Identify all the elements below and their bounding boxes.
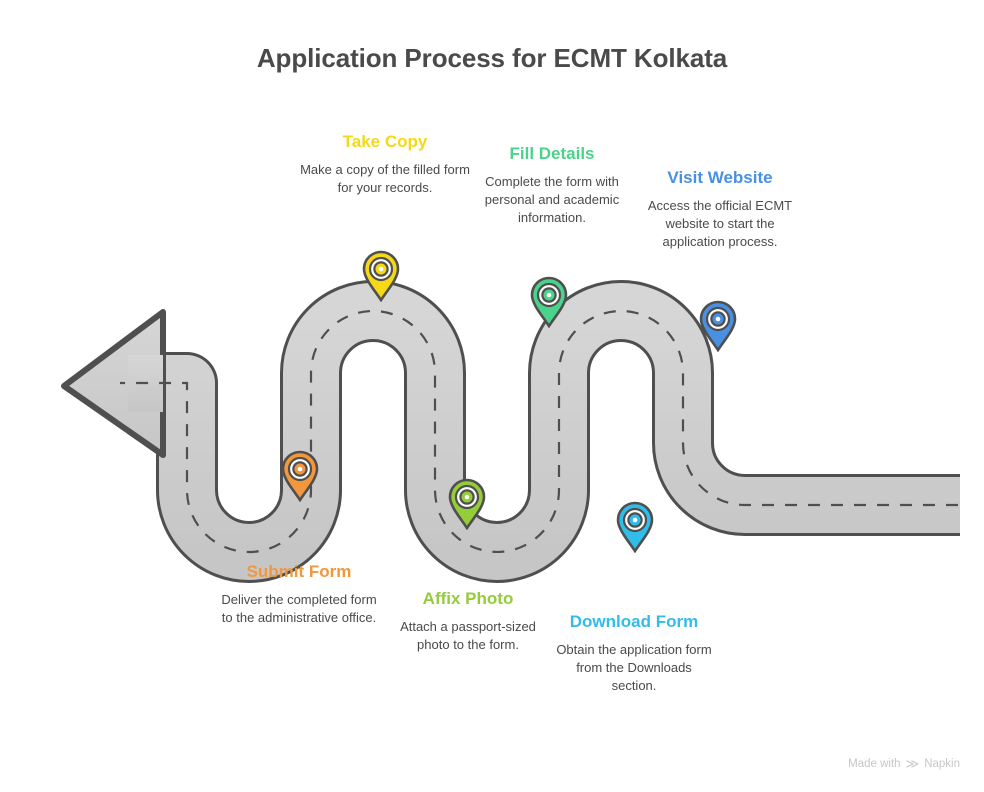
pin-center-dot [716, 317, 721, 322]
map-pin-take-copy[interactable] [361, 250, 401, 302]
step-title: Affix Photo [388, 588, 548, 609]
step-take-copy[interactable]: Take Copy Make a copy of the filled form… [297, 131, 473, 197]
pin-center-dot [379, 267, 384, 272]
step-description: Make a copy of the filled form for your … [297, 161, 473, 197]
step-download-form[interactable]: Download Form Obtain the application for… [556, 611, 712, 695]
step-affix-photo[interactable]: Affix Photo Attach a passport-sized phot… [388, 588, 548, 654]
napkin-watermark: Made with ≫ Napkin [848, 757, 960, 770]
watermark-brand-label: Napkin [924, 758, 960, 770]
step-title: Fill Details [474, 143, 630, 164]
step-title: Submit Form [219, 561, 379, 582]
step-description: Attach a passport-sized photo to the for… [388, 618, 548, 654]
map-pin-fill-details[interactable] [529, 276, 569, 328]
step-submit-form[interactable]: Submit Form Deliver the completed form t… [219, 561, 379, 627]
step-fill-details[interactable]: Fill Details Complete the form with pers… [474, 143, 630, 227]
pin-center-dot [465, 495, 470, 500]
napkin-logo-icon: ≫ [906, 757, 920, 770]
pin-center-dot [633, 518, 638, 523]
step-description: Access the official ECMT website to star… [640, 197, 800, 251]
step-title: Download Form [556, 611, 712, 632]
map-pin-visit-website[interactable] [698, 300, 738, 352]
watermark-made-with-label: Made with [848, 758, 900, 770]
pin-center-dot [298, 467, 303, 472]
step-title: Visit Website [640, 167, 800, 188]
step-description: Complete the form with personal and acad… [474, 173, 630, 227]
roadmap-diagram: Application Process for ECMT Kolkata [0, 0, 984, 792]
winding-road-with-arrow [0, 0, 984, 792]
step-description: Obtain the application form from the Dow… [556, 641, 712, 695]
step-visit-website[interactable]: Visit Website Access the official ECMT w… [640, 167, 800, 251]
step-description: Deliver the completed form to the admini… [219, 591, 379, 627]
map-pin-submit-form[interactable] [280, 450, 320, 502]
map-pin-affix-photo[interactable] [447, 478, 487, 530]
map-pin-download-form[interactable] [615, 501, 655, 553]
left-arrow-icon [64, 312, 163, 455]
road-surface [128, 311, 960, 552]
step-title: Take Copy [297, 131, 473, 152]
pin-center-dot [547, 293, 552, 298]
